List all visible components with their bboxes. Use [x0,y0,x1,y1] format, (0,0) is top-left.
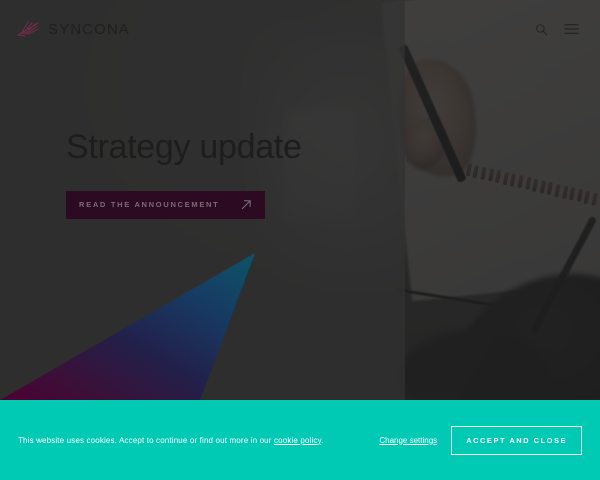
cookie-message-tail: . [321,436,323,445]
hamburger-menu-icon [564,23,579,35]
hero-title: Strategy update [66,130,302,166]
cookie-policy-link[interactable]: cookie policy [274,436,321,445]
change-settings-button[interactable]: Change settings [379,436,437,445]
feather-icon [16,20,42,38]
cookie-actions: Change settings ACCEPT AND CLOSE [379,426,582,455]
menu-button[interactable] [558,16,584,42]
search-button[interactable] [528,16,554,42]
read-announcement-label: READ THE ANNOUNCEMENT [79,200,219,209]
page-root: SYNCONA Strategy update READ THE ANNOUNC… [0,0,600,480]
search-icon [535,23,548,36]
arrow-up-right-icon [241,199,252,210]
cookie-consent-banner: This website uses cookies. Accept to con… [0,400,600,480]
cookie-message: This website uses cookies. Accept to con… [18,436,379,445]
hero-content: Strategy update READ THE ANNOUNCEMENT [66,130,302,219]
brand-logo-link[interactable]: SYNCONA [16,20,130,38]
cookie-message-lead: This website uses cookies. Accept to con… [18,436,274,445]
read-announcement-button[interactable]: READ THE ANNOUNCEMENT [66,191,265,219]
brand-name: SYNCONA [48,21,130,38]
accept-and-close-button[interactable]: ACCEPT AND CLOSE [451,426,582,455]
site-header: SYNCONA [0,0,600,58]
